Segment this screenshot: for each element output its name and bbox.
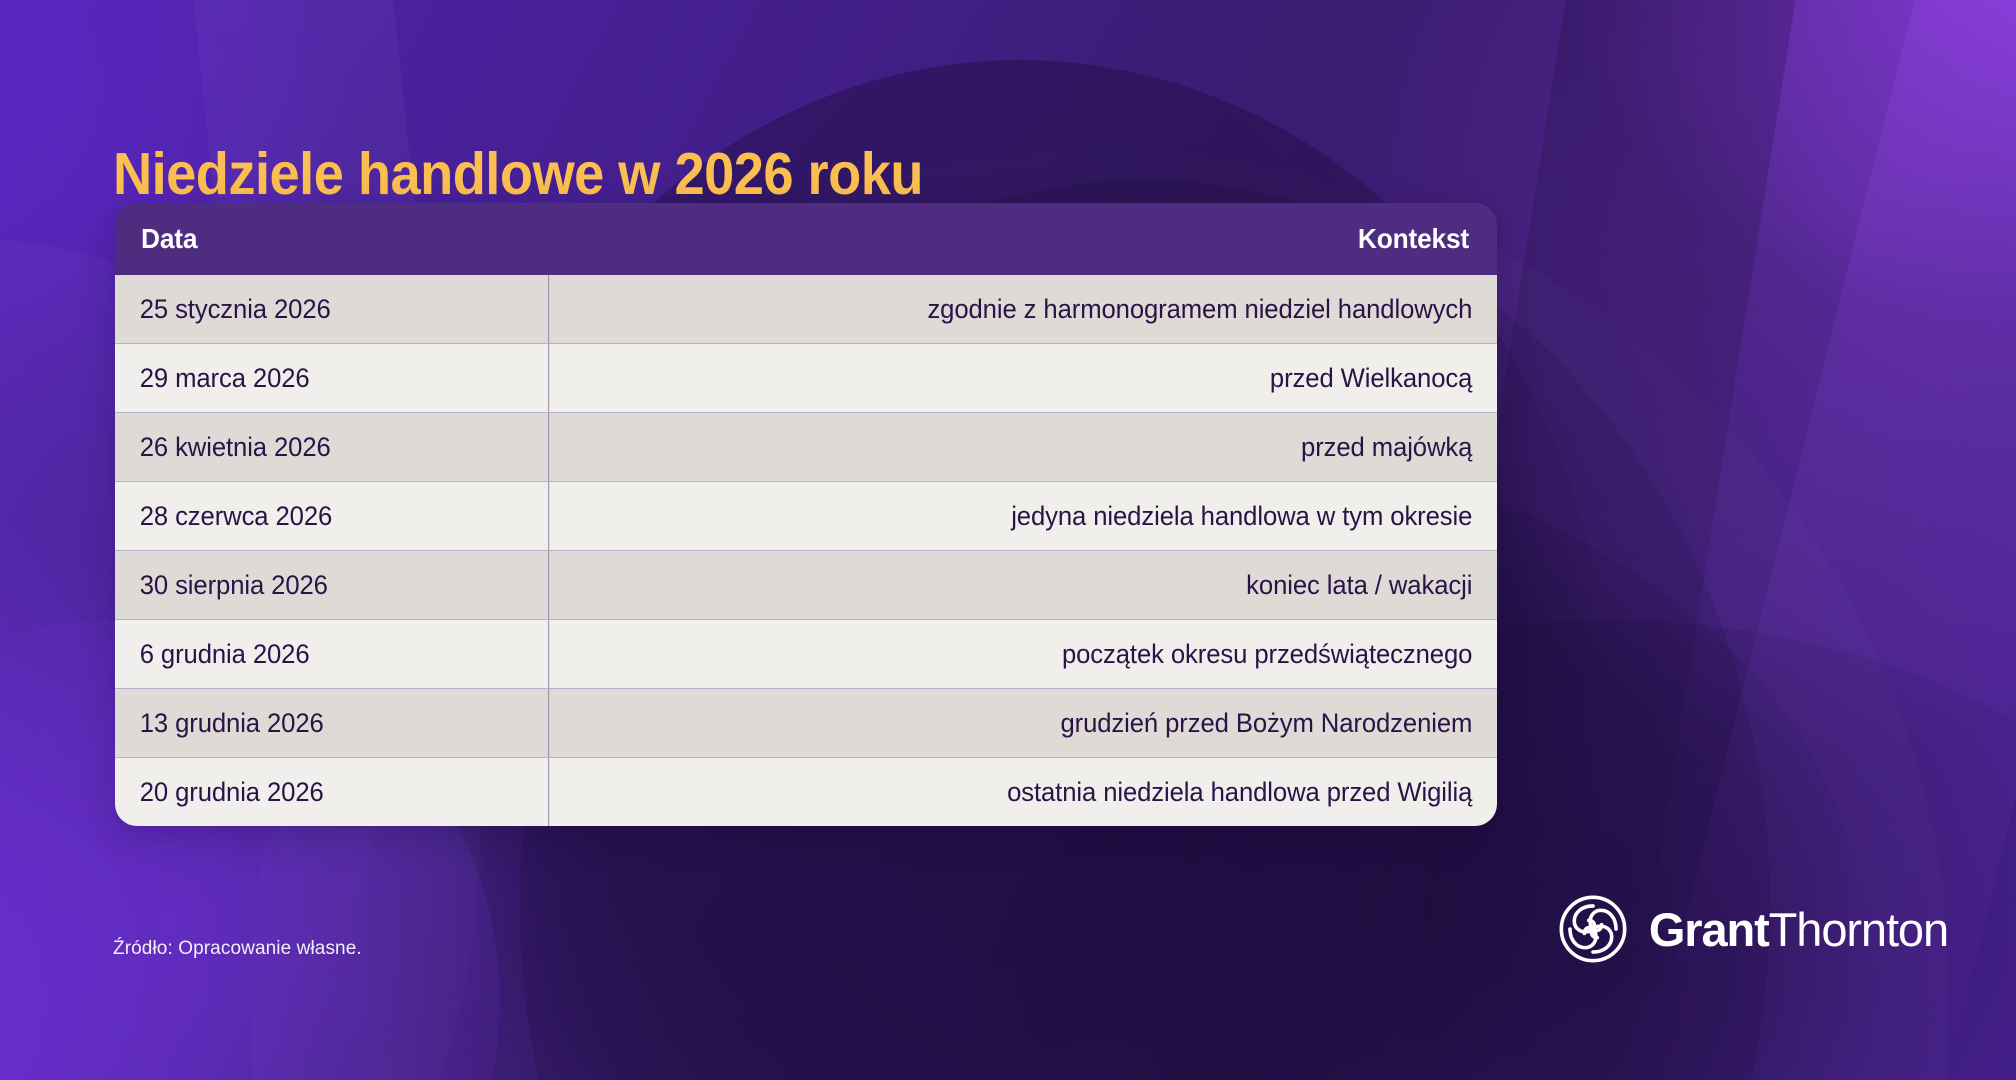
- table-row: 20 grudnia 2026 ostatnia niedziela handl…: [115, 758, 1497, 826]
- cell-date: 26 kwietnia 2026: [115, 413, 549, 481]
- brand-name-light: Thornton: [1769, 903, 1948, 956]
- table-row: 26 kwietnia 2026 przed majówką: [115, 413, 1497, 482]
- cell-date: 28 czerwca 2026: [115, 482, 549, 550]
- brand-name: GrantThornton: [1649, 902, 1948, 957]
- column-header-date: Data: [141, 223, 521, 255]
- table-row: 6 grudnia 2026 początek okresu przedświą…: [115, 620, 1497, 689]
- cell-context: koniec lata / wakacji: [618, 551, 1497, 619]
- cell-date: 30 sierpnia 2026: [115, 551, 549, 619]
- cell-context: przed Wielkanocą: [618, 344, 1497, 412]
- table-header-row: Data Kontekst: [115, 203, 1497, 275]
- cell-context: zgodnie z harmonogramem niedziel handlow…: [618, 275, 1497, 343]
- infographic-canvas: Niedziele handlowe w 2026 roku Data Kont…: [0, 0, 2016, 1080]
- cell-context: przed majówką: [618, 413, 1497, 481]
- cell-date: 29 marca 2026: [115, 344, 549, 412]
- brand-name-bold: Grant: [1649, 903, 1769, 956]
- table-row: 13 grudnia 2026 grudzień przed Bożym Nar…: [115, 689, 1497, 758]
- cell-context: początek okresu przedświątecznego: [618, 620, 1497, 688]
- cell-context: ostatnia niedziela handlowa przed Wigili…: [618, 758, 1497, 826]
- sundays-table: Data Kontekst 25 stycznia 2026 zgodnie z…: [115, 203, 1497, 826]
- page-title: Niedziele handlowe w 2026 roku: [113, 140, 923, 208]
- cell-date: 13 grudnia 2026: [115, 689, 549, 757]
- table-row: 28 czerwca 2026 jedyna niedziela handlow…: [115, 482, 1497, 551]
- source-note: Źródło: Opracowanie własne.: [113, 938, 362, 960]
- table-row: 29 marca 2026 przed Wielkanocą: [115, 344, 1497, 413]
- cell-date: 6 grudnia 2026: [115, 620, 549, 688]
- cell-context: grudzień przed Bożym Narodzeniem: [618, 689, 1497, 757]
- brand-logo: GrantThornton: [1557, 893, 1948, 965]
- column-header-context: Kontekst: [600, 223, 1469, 255]
- grant-thornton-swirl-icon: [1557, 893, 1629, 965]
- cell-date: 25 stycznia 2026: [115, 275, 549, 343]
- cell-context: jedyna niedziela handlowa w tym okresie: [618, 482, 1497, 550]
- cell-date: 20 grudnia 2026: [115, 758, 549, 826]
- table-row: 25 stycznia 2026 zgodnie z harmonogramem…: [115, 275, 1497, 344]
- table-row: 30 sierpnia 2026 koniec lata / wakacji: [115, 551, 1497, 620]
